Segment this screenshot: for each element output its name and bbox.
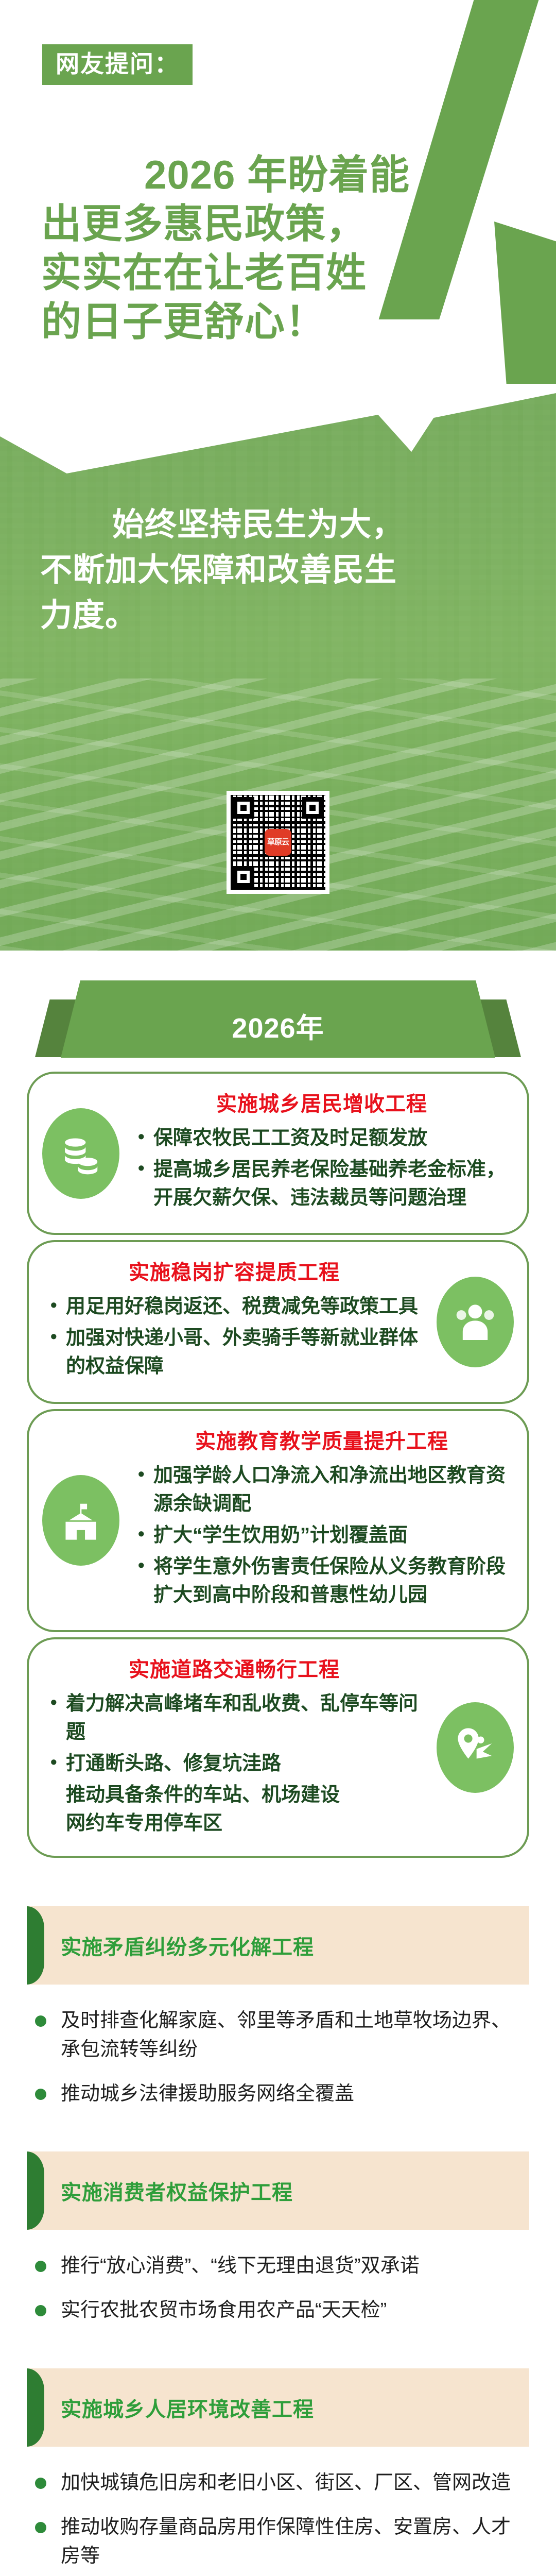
card-title: 实施稳岗扩容提质工程 [49,1260,419,1285]
card-title: 实施道路交通畅行工程 [49,1657,419,1683]
year-label: 2026年 [232,1005,324,1046]
section-bullet: 推行“放心消费”、“线下无理由退货”双承诺 [31,2251,525,2280]
section-bullet: 实行农批农贸市场食用农产品“天天检” [31,2296,525,2325]
card-title: 实施教育教学质量提升工程 [137,1429,507,1454]
card-bullet: 加强学龄人口净流入和净流出地区教育资源余缺调配 [137,1462,507,1518]
card-bullet: 打通断头路、修复坑洼路 [49,1750,419,1778]
quote-line-2: 不断加大保障和改善民生 [40,548,516,593]
section-bullet: 推动收购存量商品房用作保障性住房、安置房、人才房等 [31,2513,525,2570]
section-bullet-list: 推行“放心消费”、“线下无理由退货”双承诺 实行农批农贸市场食用农产品“天天检” [27,2230,529,2345]
policy-card-traffic: 实施道路交通畅行工程 着力解决高峰堵车和乱收费、乱停车等问题 打通断头路、修复坑… [27,1637,529,1857]
question-line-3: 实实在在让老百姓 [41,248,515,297]
quote-line-3: 力度。 [40,593,516,638]
qr-code-matrix: 草原云 [231,795,325,890]
section-title: 实施矛盾纠纷多元化解工程 [61,1930,314,1960]
policy-section-environment: 实施城乡人居环境改善工程 加快城镇危旧房和老旧小区、街区、厂区、管网改造 推动收… [27,2368,529,2576]
policy-card-employment: 实施稳岗扩容提质工程 用足用好稳岗返还、税费减免等政策工具 加强对快递小哥、外卖… [27,1240,529,1403]
card-bullet: 提高城乡居民养老保险基础养老金标准，开展欠薪欠保、违法裁员等问题治理 [137,1156,507,1212]
qr-center-logo: 草原云 [265,829,291,856]
card-bullet-list: 用足用好稳岗返还、税费减免等政策工具 加强对快递小哥、外卖骑手等新就业群体的权益… [49,1293,419,1381]
section-bullet: 推动城乡法律援助服务网络全覆盖 [31,2079,525,2108]
card-bullet: 扩大“学生饮用奶”计划覆盖面 [137,1521,507,1550]
hero-section: 网友提问： 2026 年盼着能 出更多惠民政策， 实实在在让老百姓 的日子更舒心… [0,0,556,951]
policy-card-income: 实施城乡居民增收工程 保障农牧民工工资及时足额发放 提高城乡居民养老保险基础养老… [27,1072,529,1235]
section-bullet-list: 加快城镇危旧房和老旧小区、街区、厂区、管网改造 推动收购存量商品房用作保障性住房… [27,2447,529,2576]
section-banner: 实施矛盾纠纷多元化解工程 [27,1906,529,1985]
card-bullet: 着力解决高峰堵车和乱收费、乱停车等问题 [49,1690,419,1747]
ask-badge: 网友提问： [42,44,193,85]
card-bullet: 保障农牧民工工资及时足额发放 [137,1124,507,1153]
school-icon [42,1475,119,1566]
section-bullet-list: 及时排查化解家庭、邻里等矛盾和土地草牧场边界、承包流转等纠纷 推动城乡法律援助服… [27,1985,529,2129]
section-title: 实施城乡人居环境改善工程 [61,2393,314,2422]
card-bullet: 用足用好稳岗返还、税费减免等政策工具 [49,1293,419,1321]
question-line-2: 出更多惠民政策， [41,199,515,248]
policy-card-education: 实施教育教学质量提升工程 加强学龄人口净流入和净流出地区教育资源余缺调配 扩大“… [27,1409,529,1632]
section-banner: 实施消费者权益保护工程 [27,2151,529,2230]
coins-icon [42,1108,119,1199]
qr-finder-top-right [302,797,323,819]
section-bullet: 加快城镇危旧房和老旧小区、街区、厂区、管网改造 [31,2468,525,2497]
quote-line-1: 始终坚持民生为大， [40,502,516,548]
question-line-1: 2026 年盼着能 [41,150,515,199]
card-plain-line: 网约车专用停车区 [49,1809,419,1838]
policy-quote: 始终坚持民生为大， 不断加大保障和改善民生 力度。 [0,502,556,638]
section-bullet: 及时排查化解家庭、邻里等矛盾和土地草牧场边界、承包流转等纠纷 [31,2006,525,2064]
card-bullet-list: 保障农牧民工工资及时足额发放 提高城乡居民养老保险基础养老金标准，开展欠薪欠保、… [137,1124,507,1212]
section-banner: 实施城乡人居环境改善工程 [27,2368,529,2447]
policy-section-disputes: 实施矛盾纠纷多元化解工程 及时排查化解家庭、邻里等矛盾和土地草牧场边界、承包流转… [27,1906,529,2129]
qr-finder-top-left [233,797,254,819]
map-pin-icon [437,1702,514,1793]
people-icon [437,1277,514,1367]
qr-code[interactable]: 草原云 [227,791,329,894]
outline-cards-section: 实施城乡居民增收工程 保障农牧民工工资及时足额发放 提高城乡居民养老保险基础养老… [0,1072,556,1884]
policy-section-consumer: 实施消费者权益保护工程 推行“放心消费”、“线下无理由退货”双承诺 实行农批农贸… [27,2151,529,2345]
card-title: 实施城乡居民增收工程 [137,1091,507,1117]
card-bullet: 加强对快递小哥、外卖骑手等新就业群体的权益保障 [49,1324,419,1381]
card-plain-line: 推动具备条件的车站、机场建设 [49,1781,419,1809]
question-line-4: 的日子更舒心！ [41,297,515,346]
qr-finder-bottom-left [233,866,254,888]
year-ribbon: 2026年 [61,980,495,1058]
card-bullet-list: 加强学龄人口净流入和净流出地区教育资源余缺调配 扩大“学生饮用奶”计划覆盖面 将… [137,1462,507,1609]
card-bullet-list: 着力解决高峰堵车和乱收费、乱停车等问题 打通断头路、修复坑洼路 [49,1690,419,1778]
section-title: 实施消费者权益保护工程 [61,2176,293,2206]
year-ribbon-section: 2026年 [0,951,556,1072]
card-bullet: 将学生意外伤害责任保险从义务教育阶段扩大到高中阶段和普惠性幼儿园 [137,1553,507,1609]
infographic-page: 网友提问： 2026 年盼着能 出更多惠民政策， 实实在在让老百姓 的日子更舒心… [0,0,556,2576]
question-headline: 2026 年盼着能 出更多惠民政策， 实实在在让老百姓 的日子更舒心！ [41,150,515,347]
